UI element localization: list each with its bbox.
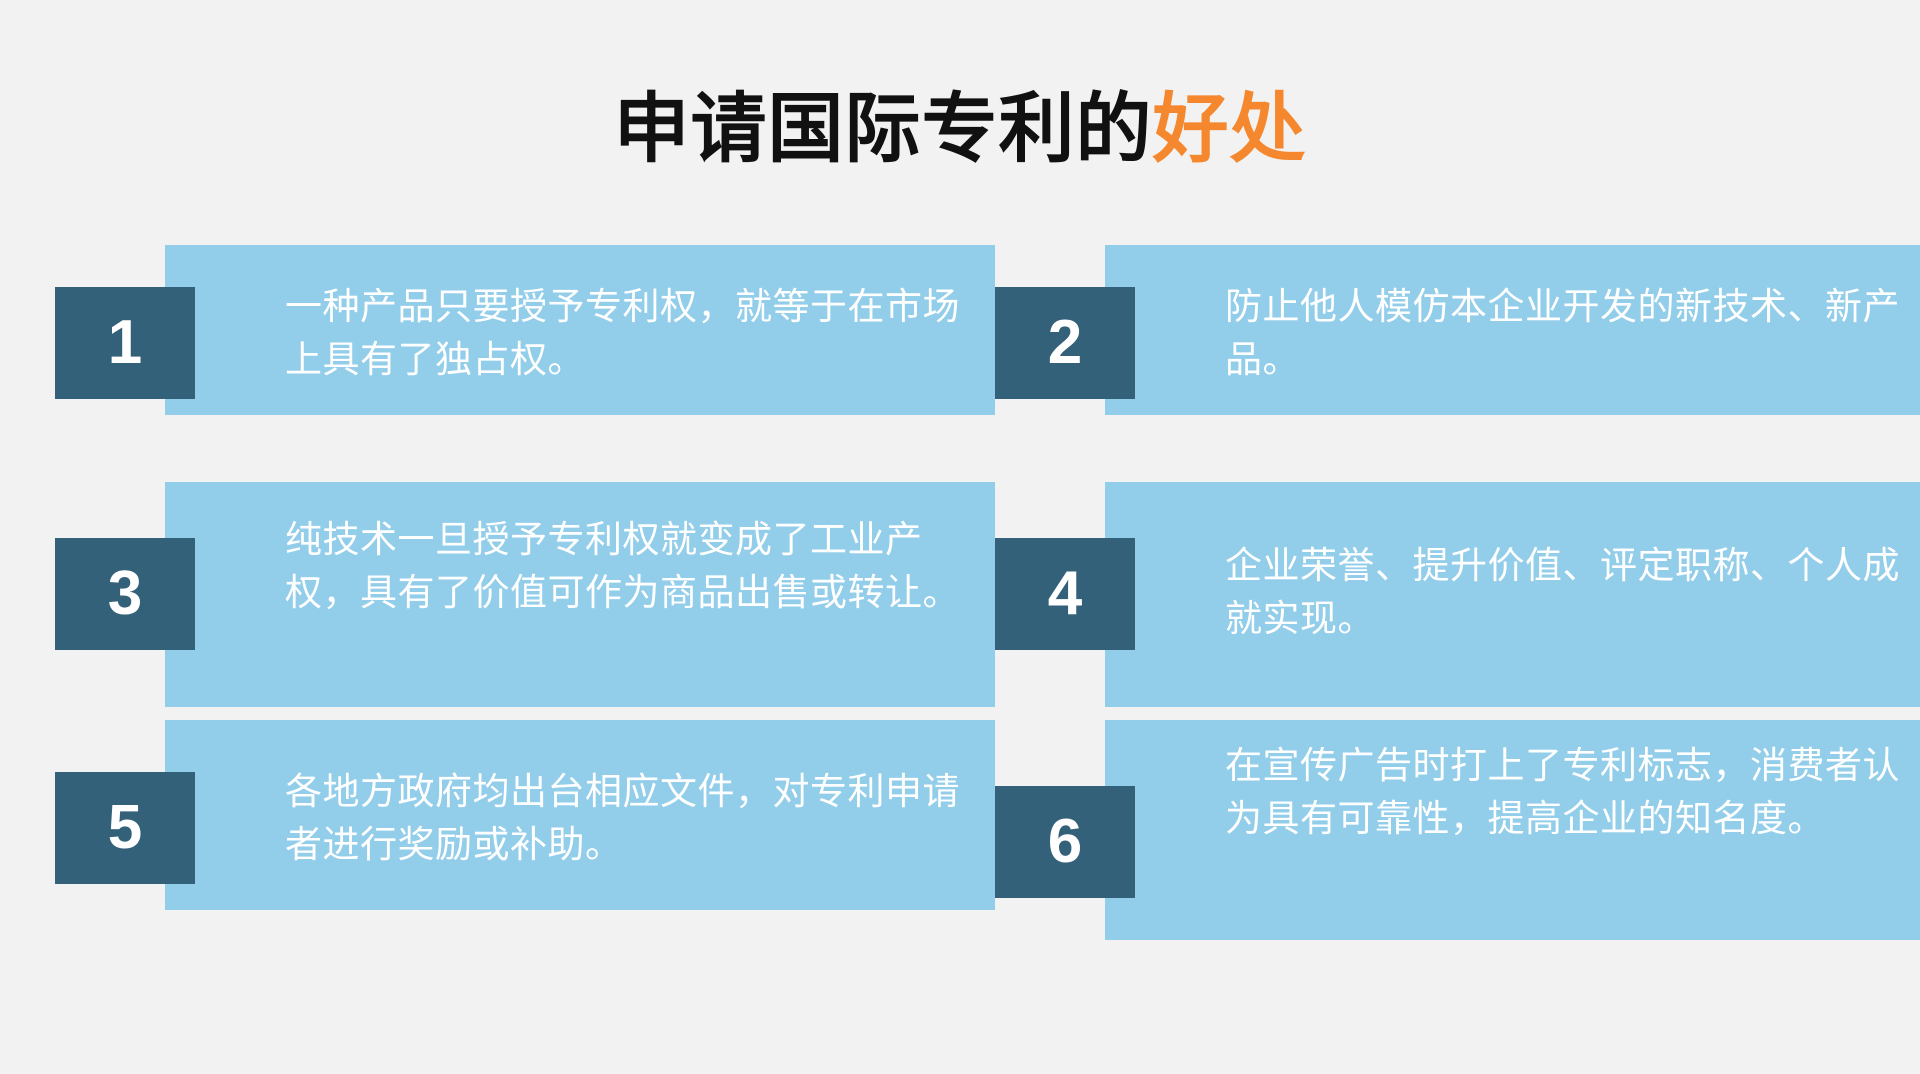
benefit-card-1-text: 一种产品只要授予专利权，就等于在市场上具有了独占权。 xyxy=(285,281,985,386)
benefit-card-grid: 1 一种产品只要授予专利权，就等于在市场上具有了独占权。 2 防止他人模仿本企业… xyxy=(0,0,1920,1074)
benefit-card-6-text: 在宣传广告时打上了专利标志，消费者认为具有可靠性，提高企业的知名度。 xyxy=(1225,740,1920,845)
infographic-poster: 申请国际专利的好处 1 一种产品只要授予专利权，就等于在市场上具有了独占权。 2… xyxy=(0,0,1920,1074)
benefit-card-2-text: 防止他人模仿本企业开发的新技术、新产品。 xyxy=(1225,281,1920,386)
benefit-card-3-text: 纯技术一旦授予专利权就变成了工业产权，具有了价值可作为商品出售或转让。 xyxy=(285,514,985,619)
benefit-card-4-text: 企业荣誉、提升价值、评定职称、个人成就实现。 xyxy=(1225,540,1920,645)
benefit-card-2-number-badge: 2 xyxy=(995,287,1135,399)
benefit-card-4-number-badge: 4 xyxy=(995,538,1135,650)
benefit-card-5-text: 各地方政府均出台相应文件，对专利申请者进行奖励或补助。 xyxy=(285,766,985,871)
benefit-card-6-number-badge: 6 xyxy=(995,786,1135,898)
benefit-card-5-number-badge: 5 xyxy=(55,772,195,884)
benefit-card-1-number-badge: 1 xyxy=(55,287,195,399)
benefit-card-3-number-badge: 3 xyxy=(55,538,195,650)
